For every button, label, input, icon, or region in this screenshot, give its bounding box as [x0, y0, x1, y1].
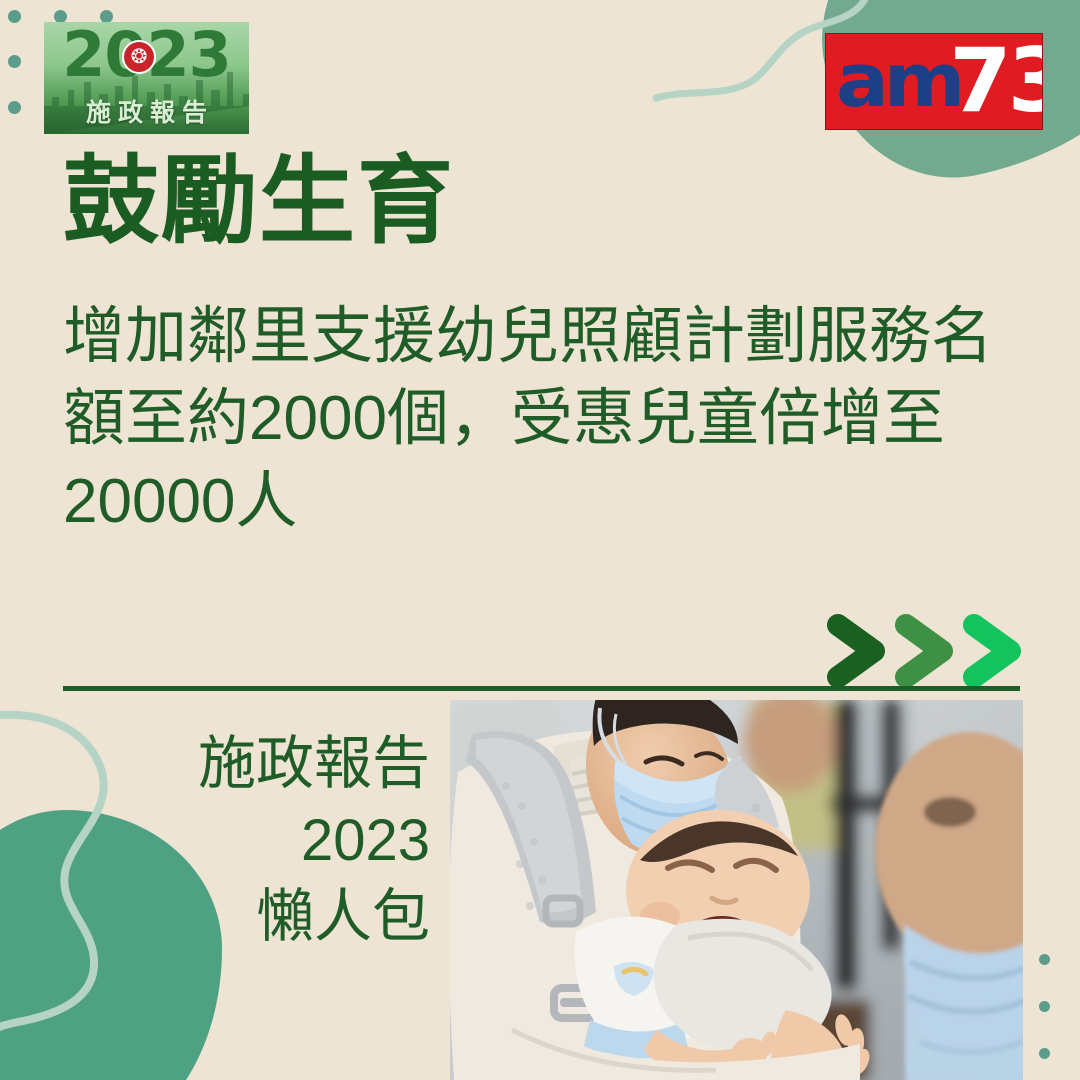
chevron-right-icon: [906, 625, 942, 677]
infographic-card: 2023 ❂ 施政報告 am 730 鼓勵生育 增加鄰里支援幼兒照顧計劃服務名額…: [0, 0, 1080, 1080]
logo-badge-label: 施政報告: [44, 93, 249, 129]
decorative-dot: [1039, 954, 1050, 965]
am730-number-text: 730: [949, 45, 1043, 117]
mother-holding-crying-baby-photo: [450, 700, 1023, 1080]
page-title: 鼓勵生育: [63, 152, 455, 253]
footer-caption-line-2: 2023: [120, 803, 430, 880]
policy-address-2023-logo: 2023 ❂ 施政報告: [44, 22, 249, 134]
decorative-dot: [8, 10, 21, 23]
decorative-dot: [8, 101, 21, 114]
hong-kong-bauhinia-emblem-icon: ❂: [122, 40, 156, 74]
am730-am-text: am: [836, 51, 960, 112]
footer-caption: 施政報告 2023 懶人包: [120, 726, 430, 956]
horizontal-divider: [63, 686, 1020, 691]
body-copy-text: 增加鄰里支援幼兒照顧計劃服務名額至約2000個，受惠兒童倍增至20000人: [63, 296, 1043, 543]
decorative-dot: [1039, 1001, 1050, 1012]
chevron-arrows-group: [824, 612, 1034, 690]
decorative-dot: [1039, 1048, 1050, 1059]
chevron-right-icon: [974, 625, 1010, 677]
footer-caption-line-1: 施政報告: [120, 726, 430, 803]
am730-publisher-logo: am 730: [825, 33, 1043, 130]
chevron-right-icon: [838, 625, 874, 677]
decorative-dot: [8, 55, 21, 68]
footer-caption-line-3: 懶人包: [120, 879, 430, 956]
